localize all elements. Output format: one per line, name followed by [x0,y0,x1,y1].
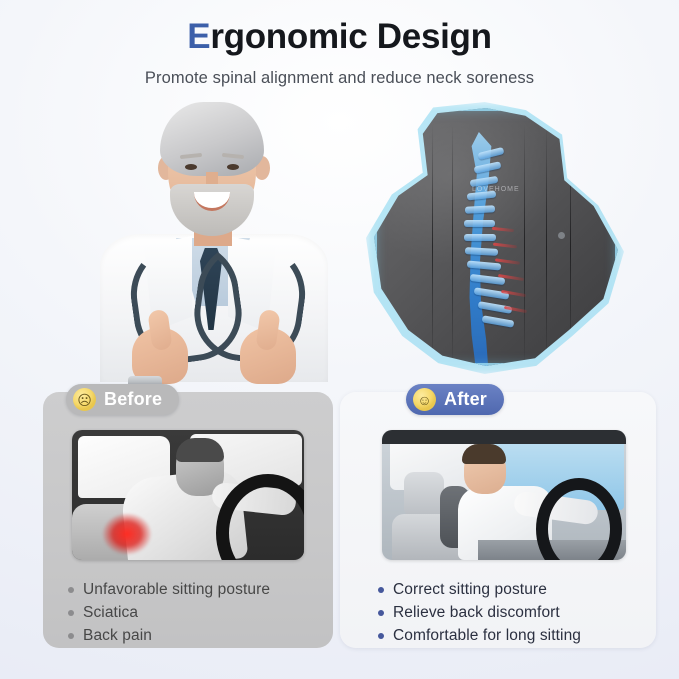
pain-highlight [94,506,160,560]
list-item-label: Back pain [83,627,152,645]
list-item-label: Comfortable for long sitting [393,627,581,645]
header: Ergonomic Design Promote spinal alignmen… [0,18,679,88]
sad-face-icon: ☹ [73,388,96,411]
list-item: Relieve back discomfort [378,601,581,624]
person-hair [176,438,224,462]
title-accent-letter: E [187,17,210,56]
doctor-eye-left [185,164,197,170]
list-item: Comfortable for long sitting [378,624,581,647]
page-subtitle: Promote spinal alignment and reduce neck… [0,69,679,88]
list-item: Back pain [68,624,270,647]
hero-section: LOVEHOME [0,92,679,382]
person-hair [462,444,506,464]
list-item-label: Unfavorable sitting posture [83,581,270,599]
before-bullet-list: Unfavorable sitting posture Sciatica Bac… [68,578,270,647]
title-rest: rgonomic Design [210,17,491,56]
before-photo [72,430,304,560]
after-bullet-list: Correct sitting posture Relieve back dis… [378,578,581,647]
list-item: Correct sitting posture [378,578,581,601]
bullet-dot-icon [378,587,384,593]
list-item-label: Relieve back discomfort [393,604,560,622]
list-item: Unfavorable sitting posture [68,578,270,601]
before-badge: ☹ Before [66,384,179,415]
doctor-hair [160,102,264,176]
list-item-label: Correct sitting posture [393,581,547,599]
after-badge: ☺ After [406,384,504,415]
doctor-eye-right [227,164,239,170]
bullet-dot-icon [378,610,384,616]
after-badge-label: After [444,389,487,410]
bullet-dot-icon [68,633,74,639]
page-title: Ergonomic Design [0,18,679,57]
car-headrest [404,472,444,518]
bullet-dot-icon [378,633,384,639]
car-roof [382,430,626,444]
infographic-page: Ergonomic Design Promote spinal alignmen… [0,0,679,679]
after-photo [382,430,626,560]
list-item: Sciatica [68,601,270,624]
smiley-face-icon: ☺ [413,388,436,411]
cushion-tag-icon [558,232,565,239]
list-item-label: Sciatica [83,604,138,622]
doctor-illustration [72,92,352,382]
product-image: LOVEHOME [362,96,630,378]
bullet-dot-icon [68,587,74,593]
before-badge-label: Before [104,389,162,410]
bullet-dot-icon [68,610,74,616]
